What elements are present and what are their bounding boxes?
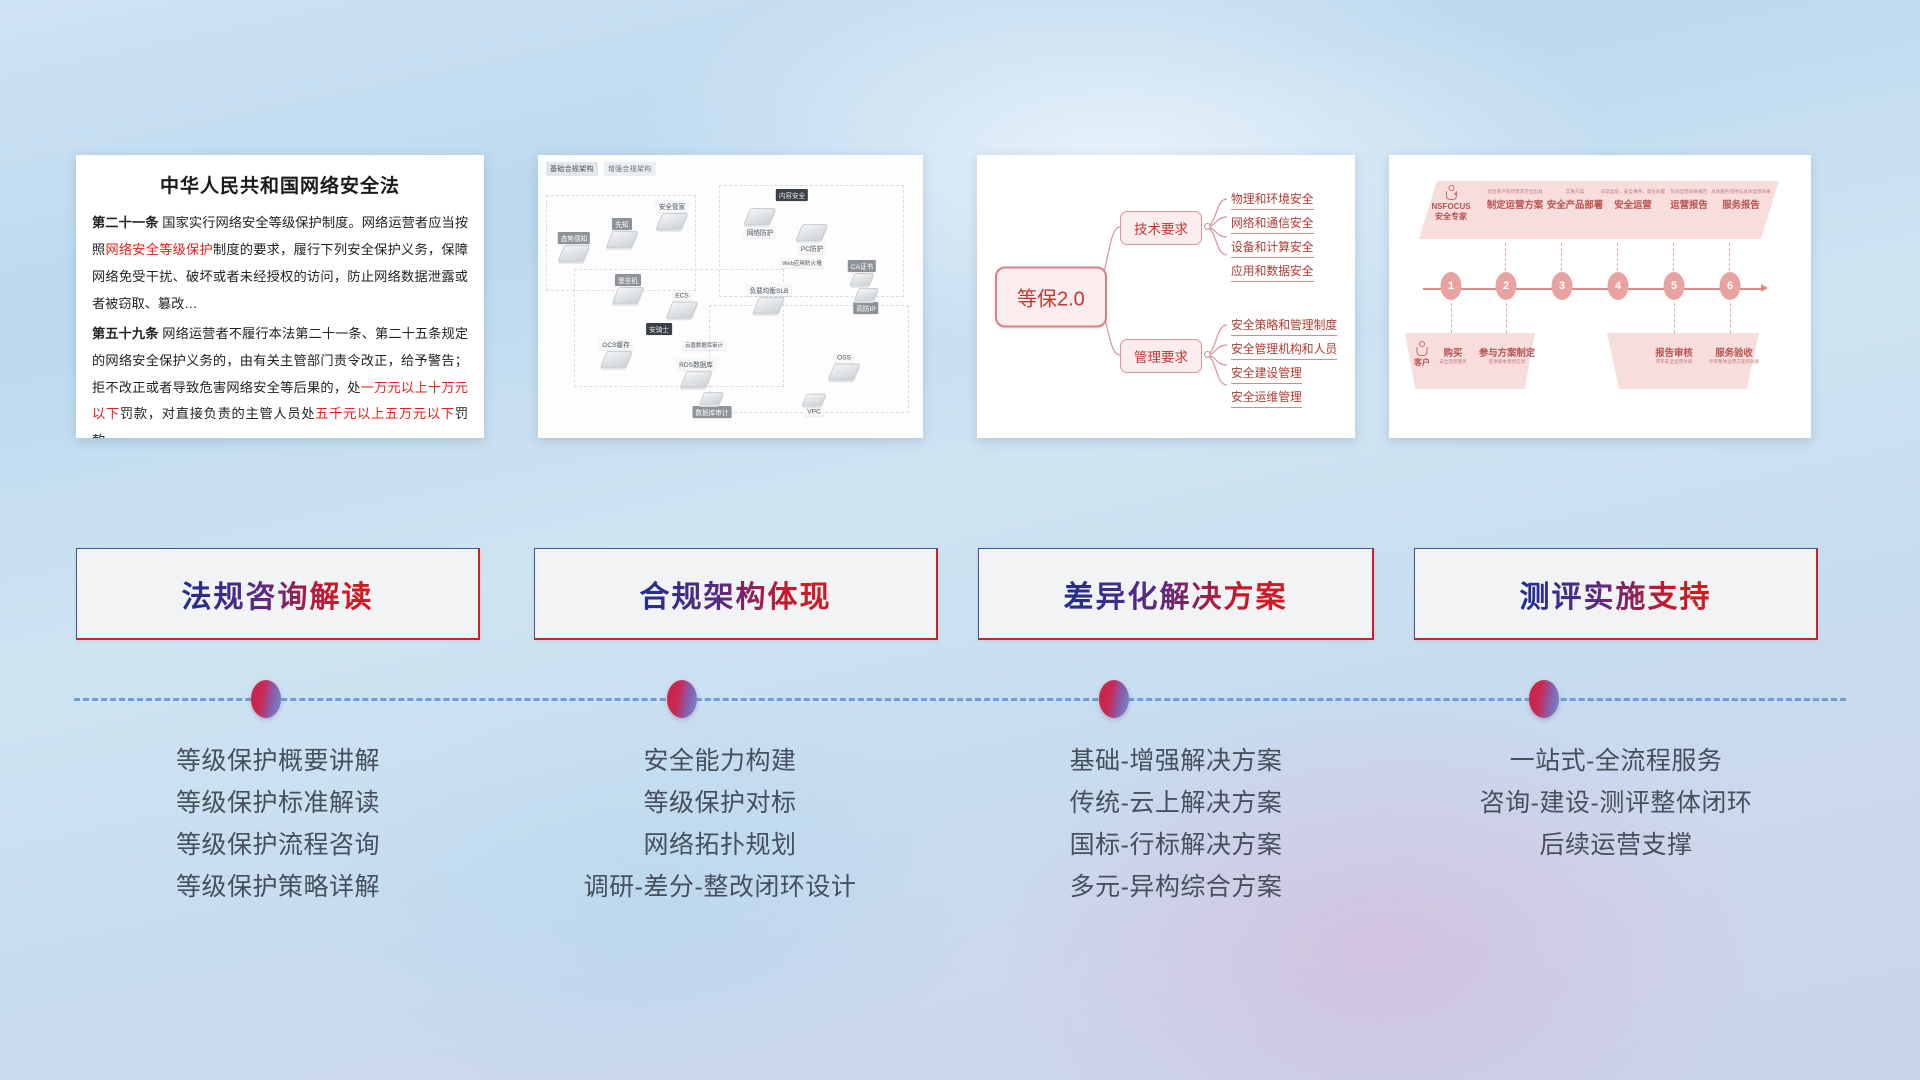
mindmap-collapse-dot-management[interactable] bbox=[1204, 351, 1211, 358]
list-item: 一站式-全流程服务 bbox=[1404, 740, 1828, 782]
arch-node-db-audit: 数据库审计 bbox=[693, 392, 732, 418]
timeline-bottom-step-3-sub: 评审整体运营方案和效果 bbox=[1709, 359, 1760, 365]
arch-node-anti-ddos-ip: 高防IP bbox=[853, 288, 878, 314]
timeline-connector-top-4 bbox=[1673, 243, 1674, 271]
timeline-rail bbox=[74, 697, 1846, 700]
arch-label-11: 高防IP bbox=[853, 302, 878, 314]
timeline-rail-dot-2[interactable] bbox=[667, 680, 697, 718]
tab-basic-architecture[interactable]: 基础合规架构 bbox=[546, 162, 598, 176]
timeline-bottom-step-0-main: 购买 bbox=[1439, 345, 1467, 359]
timeline-connector-top-1 bbox=[1505, 243, 1506, 271]
arch-node-cloud-db-audit: 云盾数据库审计 bbox=[682, 340, 726, 350]
timeline-top-step-2: 日常运处、安全事件、高危处置 安全运营 bbox=[1601, 189, 1665, 211]
timeline-bottom-step-3: 服务验收 评审整体运营方案和效果 bbox=[1709, 345, 1760, 367]
arch-label-3: 内容安全 bbox=[776, 189, 808, 201]
timeline-node-3[interactable]: 3 bbox=[1552, 272, 1573, 300]
timeline-connector-bottom-4 bbox=[1730, 303, 1731, 333]
arch-label-8: 安骑士 bbox=[646, 323, 672, 335]
mindmap-branch-management: 管理要求 bbox=[1120, 339, 1202, 373]
law-article-59-highlight-2: 五千元以上五万元以下 bbox=[315, 406, 455, 421]
title-card-row: 法规咨询解读 合规架构体现 差异化解决方案 测评实施支持 bbox=[0, 548, 1920, 640]
customer-label: 客户 bbox=[1414, 358, 1430, 368]
mindmap-leaf-tech-3: 应用和数据安全 bbox=[1231, 264, 1314, 282]
arch-node-network-protection: 网络防护 bbox=[744, 208, 776, 238]
timeline-connector-top-2 bbox=[1561, 243, 1562, 271]
law-article-59-text-b: 罚款，对直接负责的主管人员处 bbox=[120, 406, 315, 421]
detail-list-row: 等级保护概要讲解 等级保护标准解读 等级保护流程咨询 等级保护策略详解 安全能力… bbox=[0, 740, 1920, 970]
timeline-bottom-step-1-sub: 提供基本现状信息 bbox=[1479, 359, 1535, 365]
mindmap-leaf-mgmt-3: 安全运维管理 bbox=[1231, 390, 1302, 408]
law-document: 中华人民共和国网络安全法 第二十一条 国家实行网络安全等级保护制度。网络运营者应… bbox=[76, 155, 484, 438]
thumbnail-cloud-architecture[interactable]: 基础合规架构 增强合规架构 态势感知 先知 安全管家 bbox=[538, 155, 923, 438]
timeline-rail-dot-4[interactable] bbox=[1529, 680, 1559, 718]
timeline-node-6[interactable]: 6 bbox=[1720, 272, 1741, 300]
arch-label-17: OSS bbox=[834, 354, 854, 363]
arch-label-5: PC防护 bbox=[798, 242, 826, 254]
law-article-59-label: 第五十九条 bbox=[92, 326, 159, 341]
timeline-top-step-4-sub: 总体服务范围与总体运营效果 bbox=[1711, 189, 1771, 195]
timeline-connector-bottom-3 bbox=[1674, 303, 1675, 333]
list-item: 基础-增强解决方案 bbox=[978, 740, 1374, 782]
arch-node-ocs-cache: OCS缓存 bbox=[599, 338, 632, 368]
arch-node-ecs: ECS bbox=[669, 292, 695, 319]
timeline-actor-expert: ★ NSFOCUS 安全专家 bbox=[1431, 185, 1470, 221]
law-article-59: 第五十九条 网络运营者不履行本法第二十一条、第二十五条规定的网络安全保护义务的，… bbox=[92, 321, 468, 438]
arch-label-15: 云盾数据库审计 bbox=[682, 340, 726, 350]
thumbnail-cybersecurity-law[interactable]: 中华人民共和国网络安全法 第二十一条 国家实行网络安全等级保护制度。网络运营者应… bbox=[76, 155, 484, 438]
arch-node-slb: 负载均衡SLB bbox=[747, 284, 792, 314]
timeline-bottom-step-1-main: 参与方案制定 bbox=[1479, 345, 1535, 359]
customer-person-icon bbox=[1415, 341, 1430, 357]
arch-node-waf: Web应用防火墙 bbox=[779, 258, 824, 268]
list-item: 后续运营支撑 bbox=[1404, 824, 1828, 866]
title-card-0-label: 法规咨询解读 bbox=[182, 572, 374, 616]
title-card-differentiated-solution[interactable]: 差异化解决方案 bbox=[978, 548, 1374, 640]
timeline-connector-top-3 bbox=[1617, 243, 1618, 271]
detail-list-assessment-support: 一站式-全流程服务 咨询-建设-测评整体闭环 后续运营支撑 bbox=[1404, 740, 1828, 866]
mindmap-leaf-mgmt-0: 安全策略和管理制度 bbox=[1231, 318, 1337, 336]
architecture-tabs[interactable]: 基础合规架构 增强合规架构 bbox=[546, 162, 656, 176]
mindmap-collapse-dot-technical[interactable] bbox=[1204, 223, 1211, 230]
thumbnail-mindmap[interactable]: 等保2.0 技术要求 物理和环境安全 网络和通信安全 设备和计算安全 应用和数据… bbox=[977, 155, 1355, 438]
arch-label-10: CA证书 bbox=[848, 260, 876, 272]
timeline-bottom-step-2: 报告审核 评审安全运营效果 bbox=[1655, 345, 1693, 367]
arch-label-0: 态势感知 bbox=[558, 232, 590, 244]
arch-node-anqishi: 安骑士 bbox=[646, 323, 672, 335]
arch-label-6: 堡垒机 bbox=[615, 274, 641, 286]
arch-node-oss: OSS bbox=[831, 354, 857, 381]
arch-label-18: VPC bbox=[804, 408, 824, 417]
timeline-bottom-step-2-main: 报告审核 bbox=[1655, 345, 1693, 359]
expert-label-line2: 安全专家 bbox=[1431, 212, 1470, 222]
architecture-canvas: 态势感知 先知 安全管家 内容安全 网络防护 PC防护 bbox=[544, 177, 917, 432]
arch-label-4: 网络防护 bbox=[744, 226, 776, 238]
timeline-top-step-1: 实施方案 安全产品部署 bbox=[1547, 189, 1603, 211]
timeline-rail-dot-1[interactable] bbox=[251, 680, 281, 718]
timeline-top-step-1-sub: 实施方案 bbox=[1547, 189, 1603, 195]
timeline-top-step-3-main: 运营报告 bbox=[1670, 197, 1708, 211]
expert-label-line1: NSFOCUS bbox=[1431, 202, 1470, 212]
timeline-top-step-0-main: 制定运营方案 bbox=[1487, 197, 1543, 211]
timeline-top-step-2-sub: 日常运处、安全事件、高危处置 bbox=[1601, 189, 1665, 195]
timeline-bottom-step-3-main: 服务验收 bbox=[1709, 345, 1760, 359]
service-timeline-diagram: ★ NSFOCUS 安全专家 结合客户现状需求定出出具 制定运营方案 实施方案 … bbox=[1389, 155, 1811, 438]
title-card-assessment-support[interactable]: 测评实施支持 bbox=[1414, 548, 1818, 640]
mindmap-leaf-tech-2: 设备和计算安全 bbox=[1231, 240, 1314, 258]
arch-node-bastion-host: 堡垒机 bbox=[615, 274, 641, 304]
timeline-node-2[interactable]: 2 bbox=[1496, 272, 1517, 300]
law-title: 中华人民共和国网络安全法 bbox=[92, 171, 468, 198]
list-item: 传统-云上解决方案 bbox=[978, 782, 1374, 824]
timeline-rail-line bbox=[74, 698, 1846, 701]
poster-canvas: 中华人民共和国网络安全法 第二十一条 国家实行网络安全等级保护制度。网络运营者应… bbox=[0, 0, 1920, 1080]
mindmap-leaf-mgmt-1: 安全管理机构和人员 bbox=[1231, 342, 1337, 360]
arch-label-14: RDS数据库 bbox=[676, 358, 716, 370]
timeline-top-step-3-sub: 阶段运营效果报告 bbox=[1670, 189, 1708, 195]
title-card-regulation-consulting[interactable]: 法规咨询解读 bbox=[76, 548, 480, 640]
list-item: 等级保护对标 bbox=[500, 782, 940, 824]
title-card-3-label: 测评实施支持 bbox=[1520, 572, 1712, 616]
arch-label-1: 先知 bbox=[612, 218, 631, 230]
list-item: 安全能力构建 bbox=[500, 740, 940, 782]
mindmap-leaf-tech-0: 物理和环境安全 bbox=[1231, 192, 1314, 210]
arch-node-vpc: VPC bbox=[804, 394, 824, 417]
timeline-connector-bottom-2 bbox=[1506, 303, 1507, 333]
list-item: 等级保护策略详解 bbox=[76, 866, 480, 908]
timeline-bottom-step-0: 购买 安全运营服务 bbox=[1439, 345, 1467, 367]
list-item: 国标-行标解决方案 bbox=[978, 824, 1374, 866]
timeline-node-4[interactable]: 4 bbox=[1608, 272, 1629, 300]
mindmap-diagram: 等保2.0 技术要求 物理和环境安全 网络和通信安全 设备和计算安全 应用和数据… bbox=[977, 155, 1355, 438]
arch-node-content-security: 内容安全 bbox=[776, 189, 808, 201]
arch-label-7: ECS bbox=[672, 292, 692, 301]
timeline-arrow-icon bbox=[1761, 284, 1768, 292]
timeline-actor-customer: 客户 bbox=[1414, 341, 1430, 368]
list-item: 网络拓扑规划 bbox=[500, 824, 940, 866]
thumbnail-row: 中华人民共和国网络安全法 第二十一条 国家实行网络安全等级保护制度。网络运营者应… bbox=[0, 155, 1920, 440]
timeline-top-step-1-main: 安全产品部署 bbox=[1547, 197, 1603, 211]
list-item: 调研-差分-整改闭环设计 bbox=[500, 866, 940, 908]
arch-node-situational-awareness: 态势感知 bbox=[558, 232, 590, 262]
timeline-axis bbox=[1423, 288, 1763, 290]
mindmap-branch-technical: 技术要求 bbox=[1120, 211, 1202, 245]
arch-node-foresight: 先知 bbox=[609, 218, 635, 248]
timeline-bottom-step-0-sub: 安全运营服务 bbox=[1439, 359, 1467, 365]
thumbnail-service-timeline[interactable]: ★ NSFOCUS 安全专家 结合客户现状需求定出出具 制定运营方案 实施方案 … bbox=[1389, 155, 1811, 438]
timeline-connector-bottom-1 bbox=[1451, 303, 1452, 333]
expert-person-icon: ★ bbox=[1444, 185, 1459, 201]
arch-node-ca-certificate: CA证书 bbox=[848, 260, 876, 286]
detail-list-regulation-consulting: 等级保护概要讲解 等级保护标准解读 等级保护流程咨询 等级保护策略详解 bbox=[76, 740, 480, 908]
list-item: 等级保护标准解读 bbox=[76, 782, 480, 824]
timeline-node-1[interactable]: 1 bbox=[1441, 272, 1462, 300]
timeline-top-step-0-sub: 结合客户现状需求定出出具 bbox=[1487, 189, 1543, 195]
timeline-top-step-4: 总体服务范围与总体运营效果 服务报告 bbox=[1711, 189, 1771, 211]
law-article-21: 第二十一条 国家实行网络安全等级保护制度。网络运营者应当按照网络安全等级保护制度… bbox=[92, 210, 468, 318]
law-article-21-highlight: 网络安全等级保护 bbox=[105, 242, 213, 257]
arch-label-12: Web应用防火墙 bbox=[779, 258, 824, 268]
timeline-top-step-0: 结合客户现状需求定出出具 制定运营方案 bbox=[1487, 189, 1543, 211]
mindmap-root-node: 等保2.0 bbox=[995, 266, 1107, 327]
architecture-diagram: 基础合规架构 增强合规架构 态势感知 先知 安全管家 bbox=[538, 155, 923, 438]
detail-list-differentiated-solution: 基础-增强解决方案 传统-云上解决方案 国标-行标解决方案 多元-异构综合方案 bbox=[978, 740, 1374, 908]
timeline-top-step-3: 阶段运营效果报告 运营报告 bbox=[1670, 189, 1708, 211]
list-item: 多元-异构综合方案 bbox=[978, 866, 1374, 908]
timeline-bottom-step-1: 参与方案制定 提供基本现状信息 bbox=[1479, 345, 1535, 367]
tab-enhanced-architecture[interactable]: 增强合规架构 bbox=[604, 162, 656, 176]
timeline-top-step-4-main: 服务报告 bbox=[1711, 197, 1771, 211]
detail-list-compliance-architecture: 安全能力构建 等级保护对标 网络拓扑规划 调研-差分-整改闭环设计 bbox=[500, 740, 940, 908]
arch-node-pc-protection: PC防护 bbox=[798, 224, 826, 254]
list-item: 等级保护概要讲解 bbox=[76, 740, 480, 782]
timeline-bottom-step-2-sub: 评审安全运营效果 bbox=[1655, 359, 1693, 365]
law-article-21-label: 第二十一条 bbox=[92, 215, 159, 230]
title-card-2-label: 差异化解决方案 bbox=[1064, 572, 1288, 616]
timeline-top-step-2-main: 安全运营 bbox=[1601, 197, 1665, 211]
timeline-node-5[interactable]: 5 bbox=[1664, 272, 1685, 300]
arch-label-2: 安全管家 bbox=[656, 200, 688, 212]
arch-label-13: OCS缓存 bbox=[599, 338, 632, 350]
title-card-1-label: 合规架构体现 bbox=[640, 572, 832, 616]
mindmap-leaf-mgmt-2: 安全建设管理 bbox=[1231, 366, 1302, 384]
arch-node-security-butler: 安全管家 bbox=[656, 200, 688, 230]
mindmap-leaf-tech-1: 网络和通信安全 bbox=[1231, 216, 1314, 234]
list-item: 咨询-建设-测评整体闭环 bbox=[1404, 782, 1828, 824]
arch-node-rds-database: RDS数据库 bbox=[676, 358, 716, 388]
timeline-connector-top-5 bbox=[1729, 243, 1730, 271]
list-item: 等级保护流程咨询 bbox=[76, 824, 480, 866]
arch-label-9: 负载均衡SLB bbox=[747, 284, 792, 296]
timeline-rail-dot-3[interactable] bbox=[1099, 680, 1129, 718]
title-card-compliance-architecture[interactable]: 合规架构体现 bbox=[534, 548, 938, 640]
arch-label-16: 数据库审计 bbox=[693, 406, 732, 418]
